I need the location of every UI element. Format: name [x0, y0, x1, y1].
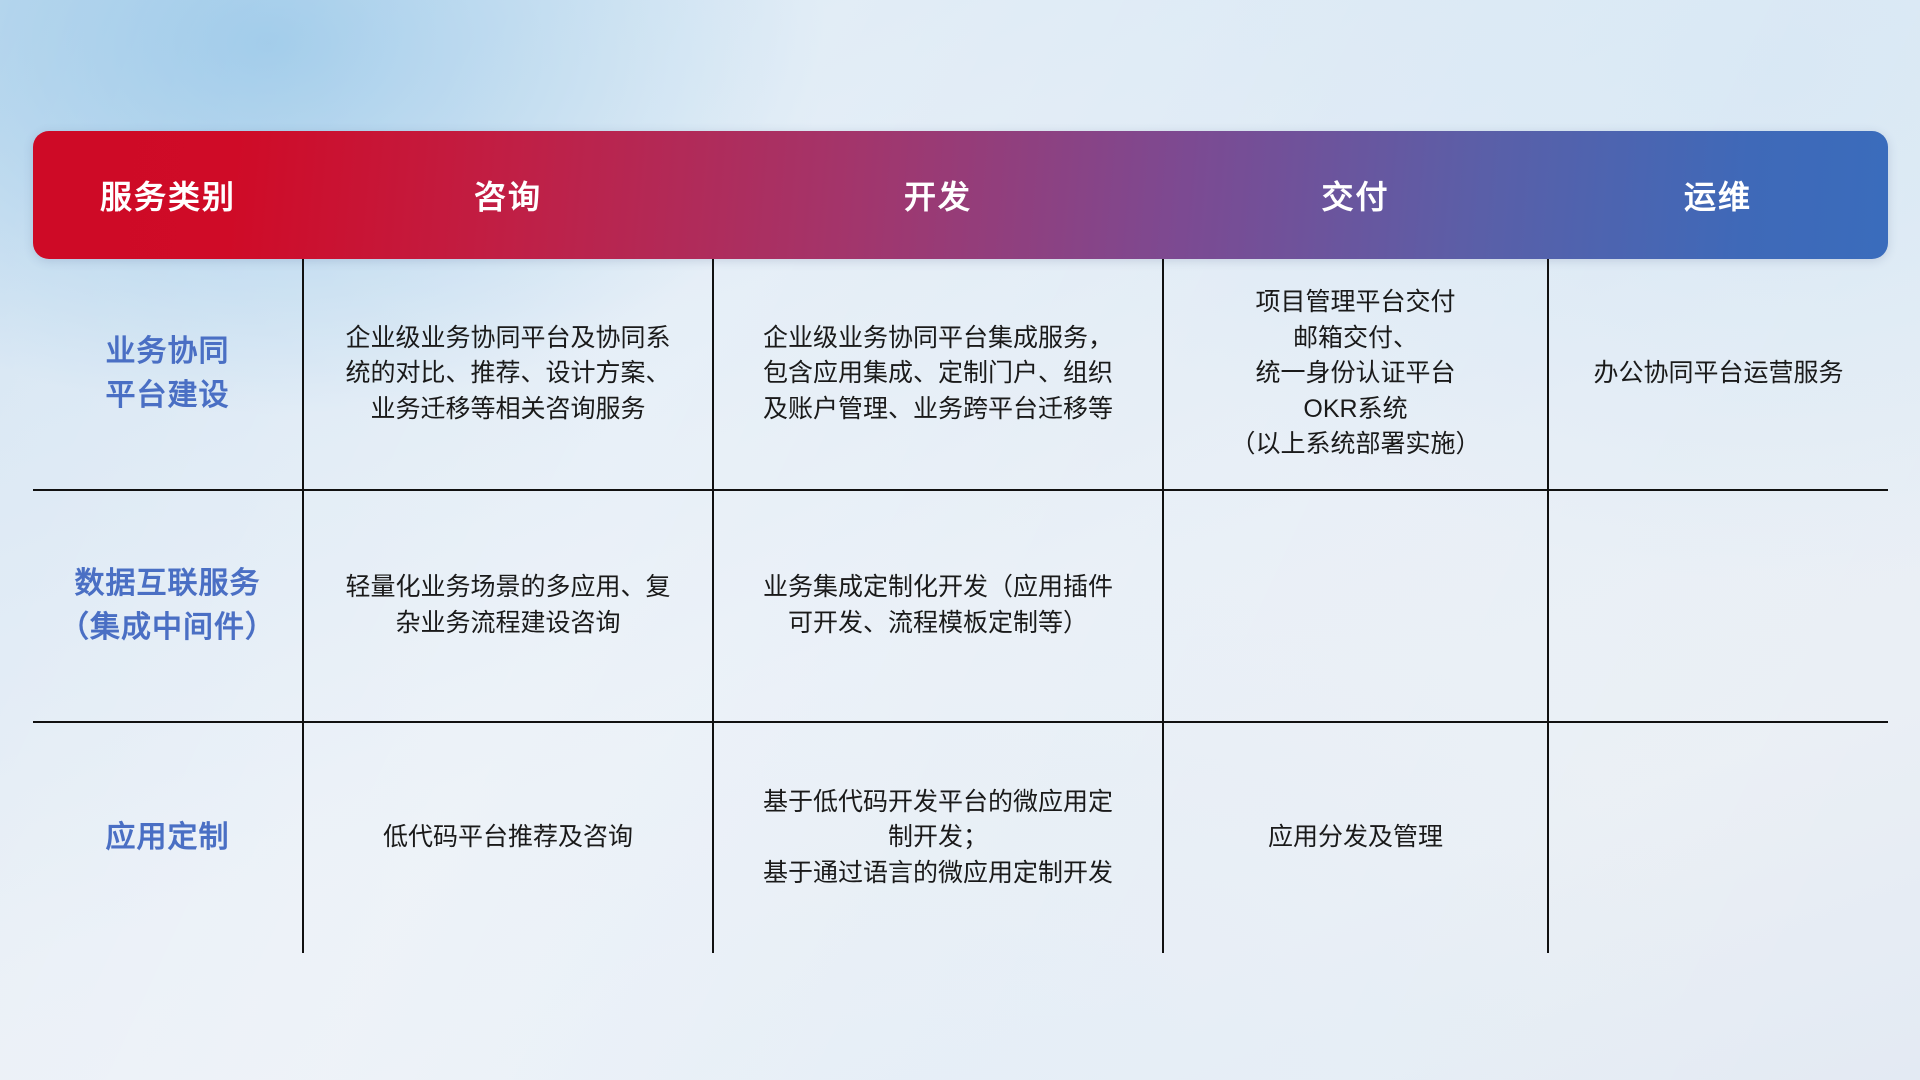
service-matrix-table-wrapper: 服务类别 咨询 开发 交付 运维 业务协同 平台建设 企业级业务协同平台及协同系… — [33, 131, 1888, 953]
column-header-development[interactable]: 开发 — [713, 131, 1163, 259]
table-row: 数据互联服务 （集成中间件） 轻量化业务场景的多应用、复 杂业务流程建设咨询 业… — [33, 490, 1888, 721]
cell-row1-operations: 办公协同平台运营服务 — [1548, 259, 1888, 490]
cell-row2-consulting: 轻量化业务场景的多应用、复 杂业务流程建设咨询 — [303, 490, 713, 721]
service-matrix-table: 服务类别 咨询 开发 交付 运维 业务协同 平台建设 企业级业务协同平台及协同系… — [33, 131, 1888, 953]
row-label-business-collaboration-platform: 业务协同 平台建设 — [33, 259, 303, 490]
table-header-row: 服务类别 咨询 开发 交付 运维 — [33, 131, 1888, 259]
cell-row2-delivery — [1163, 490, 1548, 721]
cell-row2-operations — [1548, 490, 1888, 721]
cell-row3-development: 基于低代码开发平台的微应用定 制开发； 基于通过语言的微应用定制开发 — [713, 722, 1163, 953]
cell-row1-delivery: 项目管理平台交付 邮箱交付、 统一身份认证平台 OKR系统 （以上系统部署实施） — [1163, 259, 1548, 490]
table-row: 应用定制 低代码平台推荐及咨询 基于低代码开发平台的微应用定 制开发； 基于通过… — [33, 722, 1888, 953]
cell-row2-development: 业务集成定制化开发（应用插件 可开发、流程模板定制等） — [713, 490, 1163, 721]
column-header-consulting[interactable]: 咨询 — [303, 131, 713, 259]
column-header-operations[interactable]: 运维 — [1548, 131, 1888, 259]
table-row: 业务协同 平台建设 企业级业务协同平台及协同系 统的对比、推荐、设计方案、 业务… — [33, 259, 1888, 490]
row-label-application-customization: 应用定制 — [33, 722, 303, 953]
cell-row1-consulting: 企业级业务协同平台及协同系 统的对比、推荐、设计方案、 业务迁移等相关咨询服务 — [303, 259, 713, 490]
row-label-data-integration-service: 数据互联服务 （集成中间件） — [33, 490, 303, 721]
cell-row3-delivery: 应用分发及管理 — [1163, 722, 1548, 953]
cell-row3-consulting: 低代码平台推荐及咨询 — [303, 722, 713, 953]
column-header-delivery[interactable]: 交付 — [1163, 131, 1548, 259]
slide-canvas: 服务类别 咨询 开发 交付 运维 业务协同 平台建设 企业级业务协同平台及协同系… — [0, 0, 1920, 1080]
cell-row3-operations — [1548, 722, 1888, 953]
column-header-category[interactable]: 服务类别 — [33, 131, 303, 259]
table-body: 业务协同 平台建设 企业级业务协同平台及协同系 统的对比、推荐、设计方案、 业务… — [33, 259, 1888, 953]
cell-row1-development: 企业级业务协同平台集成服务， 包含应用集成、定制门户、组织 及账户管理、业务跨平… — [713, 259, 1163, 490]
